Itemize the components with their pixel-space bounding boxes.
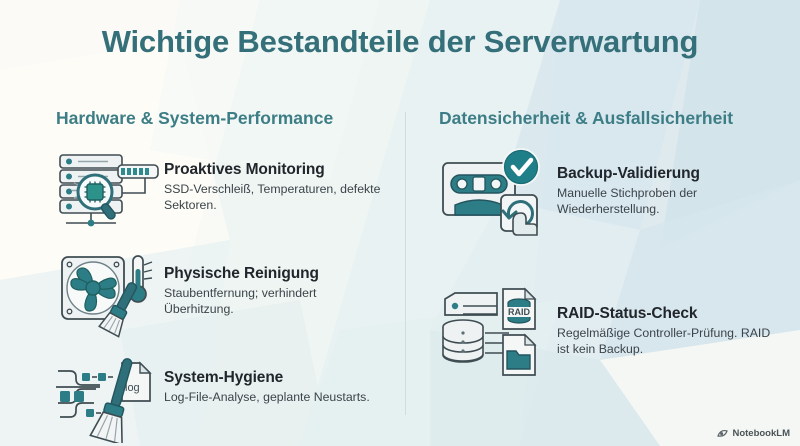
list-item-raid-status-check[interactable]: RAID RAID-Status-Check Regelmäßige Contr… xyxy=(437,283,777,379)
column-heading-datensicherheit: Datensicherheit & Ausfallsicherheit xyxy=(437,108,777,129)
tape-cassette-check-restore-icon xyxy=(437,143,557,239)
list-item-text: RAID-Status-Check Regelmäßige Controller… xyxy=(557,283,777,358)
notebooklm-watermark: NotebookLM xyxy=(717,428,790,439)
list-item-backup-validierung[interactable]: Backup-Validierung Manuelle Stichproben … xyxy=(437,143,777,239)
column-hardware: Hardware & System-Performance xyxy=(52,108,382,446)
list-item-desc: Regelmäßige Controller-Prüfung. RAID ist… xyxy=(557,326,777,358)
server-magnifier-chip-icon xyxy=(52,143,164,235)
list-item-title: Backup-Validierung xyxy=(557,165,777,183)
list-item-system-hygiene[interactable]: log System-Hygiene Log-File-Analy xyxy=(52,351,382,443)
raid-storage-folder-icon: RAID xyxy=(437,283,557,379)
list-item-physische-reinigung[interactable]: Physische Reinigung Staubentfernung; ver… xyxy=(52,247,382,339)
list-item-title: System-Hygiene xyxy=(164,369,382,387)
list-item-title: Proaktives Monitoring xyxy=(164,161,382,179)
column-heading-hardware: Hardware & System-Performance xyxy=(52,108,382,129)
page-title: Wichtige Bestandteile der Serverwartung xyxy=(0,24,800,60)
column-divider xyxy=(405,112,406,415)
list-item-proaktives-monitoring[interactable]: Proaktives Monitoring SSD-Verschleiß, Te… xyxy=(52,143,382,235)
list-item-desc: Log-File-Analyse, geplante Neustarts. xyxy=(164,390,382,406)
list-item-title: RAID-Status-Check xyxy=(557,305,777,323)
notebooklm-icon xyxy=(717,428,728,439)
svg-text:RAID: RAID xyxy=(508,307,530,317)
list-item-desc: Staubentfernung; verhindert Überhitzung. xyxy=(164,286,382,318)
list-item-text: Physische Reinigung Staubentfernung; ver… xyxy=(164,247,382,318)
list-item-desc: SSD-Verschleiß, Temperaturen, defekte Se… xyxy=(164,182,382,214)
log-file-broom-icon: log xyxy=(52,351,164,443)
column-datensicherheit: Datensicherheit & Ausfallsicherheit xyxy=(437,108,777,423)
slide-canvas: Wichtige Bestandteile der Serverwartung … xyxy=(0,0,800,446)
list-item-title: Physische Reinigung xyxy=(164,265,382,283)
fan-thermometer-brush-icon xyxy=(52,247,164,339)
notebooklm-label: NotebookLM xyxy=(732,428,790,439)
list-item-text: Proaktives Monitoring SSD-Verschleiß, Te… xyxy=(164,143,382,214)
svg-text:log: log xyxy=(125,382,140,394)
list-item-text: System-Hygiene Log-File-Analyse, geplant… xyxy=(164,351,382,406)
list-item-desc: Manuelle Stichproben der Wiederherstellu… xyxy=(557,186,777,218)
list-item-text: Backup-Validierung Manuelle Stichproben … xyxy=(557,143,777,218)
